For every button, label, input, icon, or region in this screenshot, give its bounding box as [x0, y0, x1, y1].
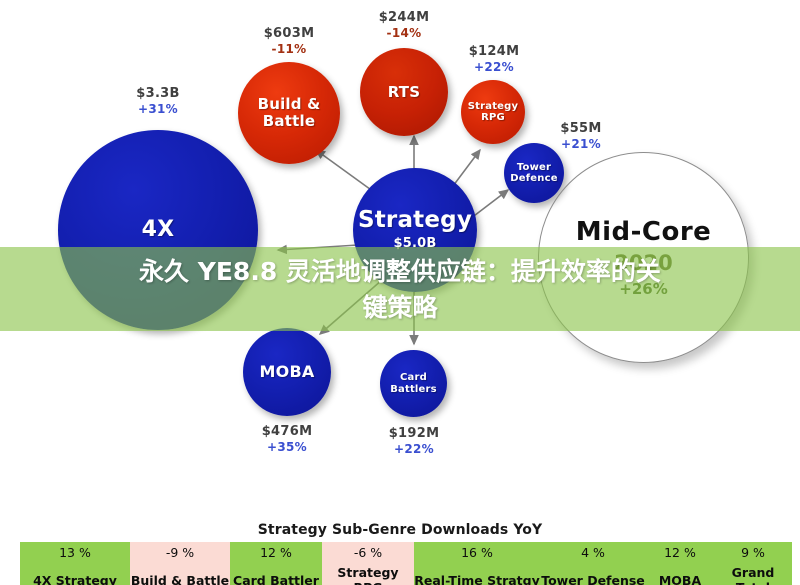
yoy-table: 13 %-9 %12 %-6 %16 %4 %12 %9 % 4X Strate… [20, 542, 792, 585]
infographic-page: 4X $3.3B +31% Build & Battle $603M -11% … [0, 0, 800, 585]
callout-moba: $476M +35% [241, 424, 333, 454]
bubble-tower-defence-label-line1: Tower [517, 162, 551, 173]
bubble-build-battle-label-line1: Build & [258, 96, 321, 113]
table-row-values: 13 %-9 %12 %-6 %16 %4 %12 %9 % [20, 542, 792, 562]
bubble-strategy-label: Strategy [358, 208, 472, 234]
bubble-rts[interactable]: RTS [360, 48, 448, 136]
callout-4x: $3.3B +31% [112, 86, 204, 116]
bubble-card-battlers-label-line2: Battlers [390, 384, 437, 395]
callout-tower-defence-value: $55M [535, 121, 627, 136]
bubble-rts-label: RTS [388, 84, 421, 101]
table-name-cell: Tower Defense [540, 562, 646, 585]
bubble-build-battle-label-line2: Battle [263, 113, 315, 130]
bubble-moba[interactable]: MOBA [243, 328, 331, 416]
bubble-tower-defence-label-line2: Defence [510, 173, 557, 184]
bubble-card-battlers-label-line1: Card [400, 372, 427, 383]
table-name-cell: Strategy RPG [322, 562, 414, 585]
callout-moba-pct: +35% [241, 440, 333, 454]
callout-4x-value: $3.3B [112, 86, 204, 101]
bubble-midcore-label: Mid-Core [576, 217, 712, 247]
table-value-cell: -6 % [322, 542, 414, 562]
bubble-moba-label: MOBA [260, 363, 315, 381]
callout-4x-pct: +31% [112, 102, 204, 116]
callout-tower-defence: $55M +21% [535, 121, 627, 151]
callout-strategy-rpg: $124M +22% [448, 44, 540, 74]
bubble-4x-label: 4X [142, 218, 175, 243]
overlay-headline: 永久 YE8.8 灵活地调整供应链：提升效率的关 键策略 [0, 249, 800, 331]
table-name-cell: 4X Strategy [20, 562, 130, 585]
bubble-build-battle[interactable]: Build & Battle [238, 62, 340, 164]
callout-rts: $244M -14% [358, 10, 450, 40]
table-value-cell: 12 % [230, 542, 322, 562]
bubble-strategy-rpg-label-line1: Strategy [468, 101, 519, 112]
callout-build-battle-pct: -11% [243, 42, 335, 56]
bubble-strategy-rpg[interactable]: Strategy RPG [461, 80, 525, 144]
callout-moba-value: $476M [241, 424, 333, 439]
callout-strategy-rpg-pct: +22% [448, 60, 540, 74]
table-name-cell: Card Battler [230, 562, 322, 585]
table-value-cell: 9 % [714, 542, 792, 562]
callout-build-battle: $603M -11% [243, 26, 335, 56]
callout-tower-defence-pct: +21% [535, 137, 627, 151]
table-value-cell: 13 % [20, 542, 130, 562]
callout-build-battle-value: $603M [243, 26, 335, 41]
table-value-cell: 12 % [646, 542, 714, 562]
table-name-cell: Grand Total [714, 562, 792, 585]
overlay-headline-line2: 键策略 [362, 290, 437, 326]
callout-rts-value: $244M [358, 10, 450, 25]
table-title: Strategy Sub-Genre Downloads YoY [0, 522, 800, 538]
callout-card-battlers: $192M +22% [368, 426, 460, 456]
bubble-strategy-rpg-label-line2: RPG [481, 112, 505, 123]
table-value-cell: -9 % [130, 542, 230, 562]
table-row-names: 4X StrategyBuild & BattleCard BattlerStr… [20, 562, 792, 585]
overlay-headline-line1: 永久 YE8.8 灵活地调整供应链：提升效率的关 [139, 254, 661, 290]
table-value-cell: 16 % [414, 542, 540, 562]
table-name-cell: MOBA [646, 562, 714, 585]
callout-card-battlers-value: $192M [368, 426, 460, 441]
table-value-cell: 4 % [540, 542, 646, 562]
bubble-card-battlers[interactable]: Card Battlers [380, 350, 447, 417]
bubble-tower-defence[interactable]: Tower Defence [504, 143, 564, 203]
table-name-cell: Build & Battle [130, 562, 230, 585]
callout-rts-pct: -14% [358, 26, 450, 40]
callout-card-battlers-pct: +22% [368, 442, 460, 456]
table-name-cell: Real-Time Stratgy [414, 562, 540, 585]
callout-strategy-rpg-value: $124M [448, 44, 540, 59]
